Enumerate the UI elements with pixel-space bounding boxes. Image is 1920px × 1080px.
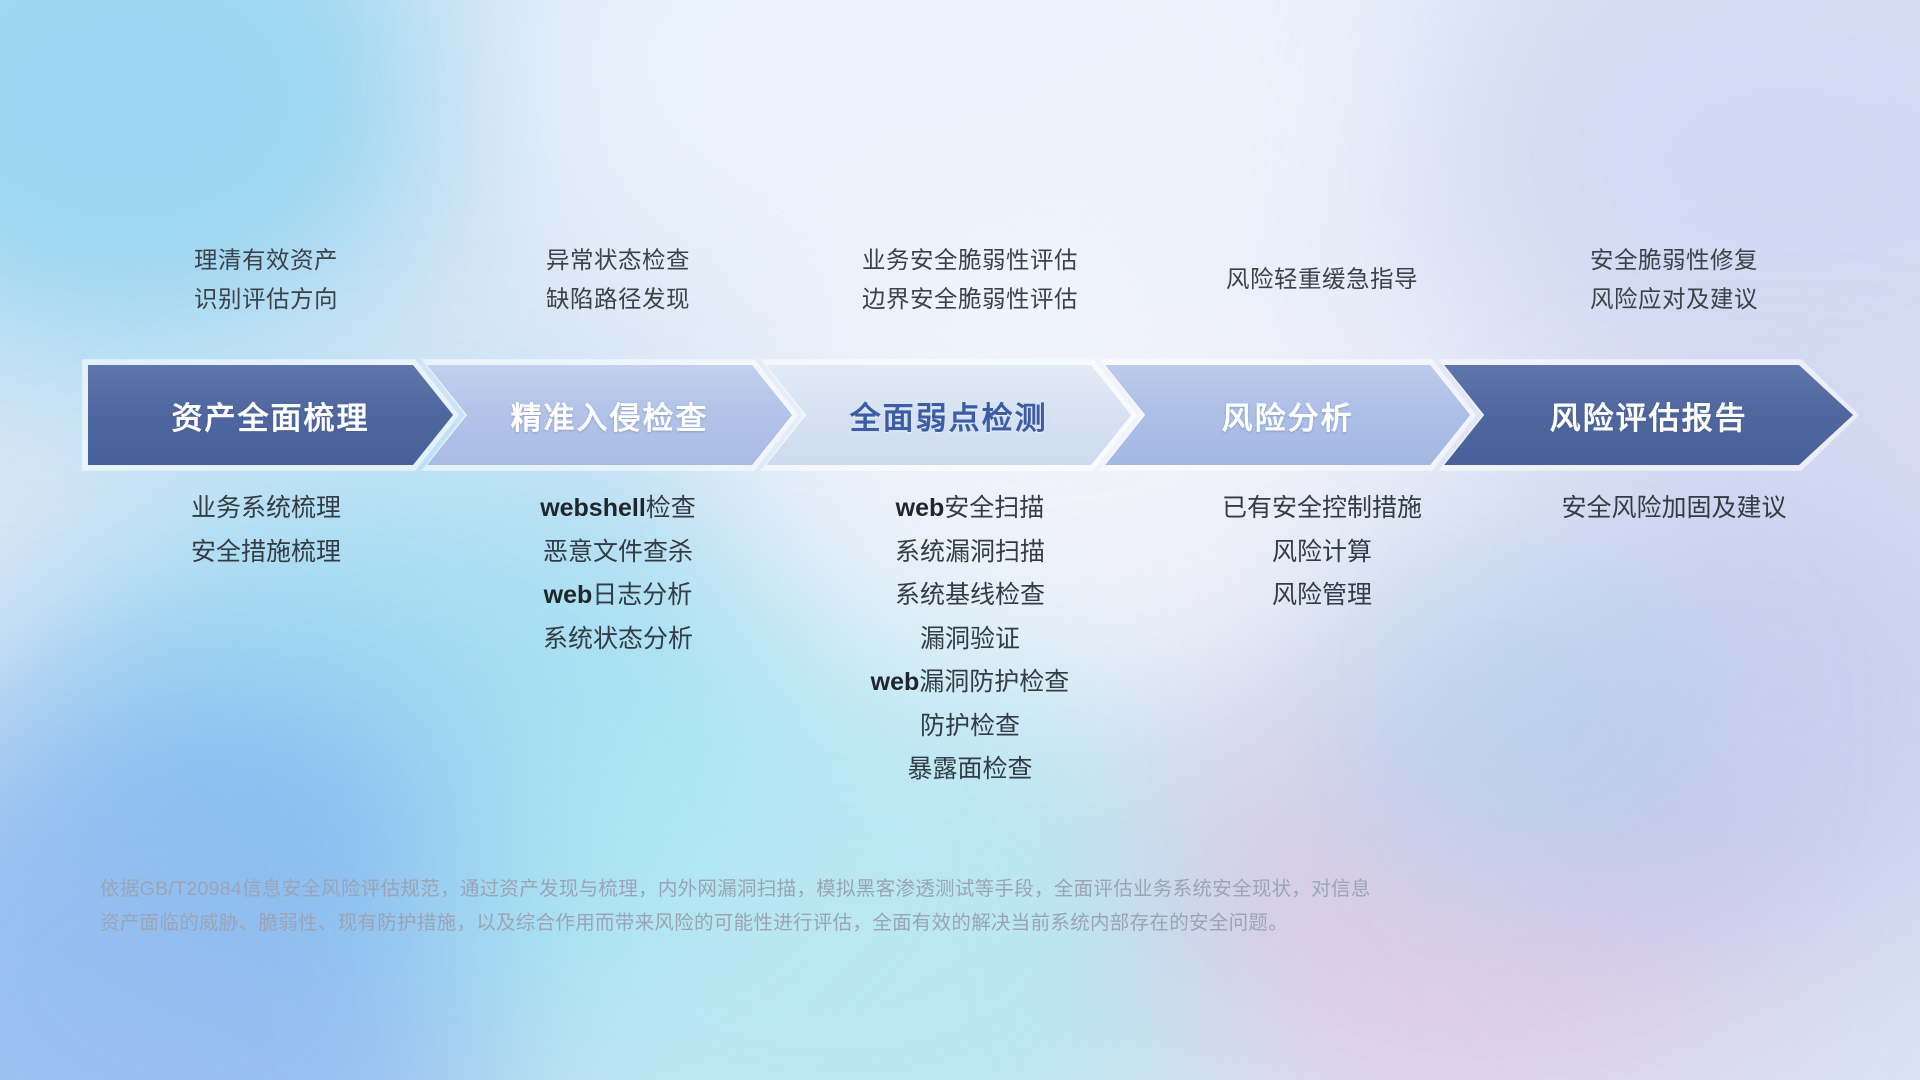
top-label-group-5: 安全脆弱性修复风险应对及建议 <box>1498 225 1850 335</box>
process-step-5[interactable]: 风险评估报告 <box>1444 365 1853 465</box>
process-step-label: 风险分析 <box>1222 393 1354 438</box>
list-item-text: 安全风险加固及建议 <box>1561 494 1786 522</box>
list-item: 安全措施梳理 <box>191 539 341 567</box>
bottom-detail-row: 业务系统梳理安全措施梳理webshell检查恶意文件查杀web日志分析系统状态分… <box>90 495 1850 784</box>
list-item-text: 漏洞防护检查 <box>919 668 1069 696</box>
list-item: web安全扫描 <box>896 495 1045 523</box>
top-label-group-3: 业务安全脆弱性评估边界安全脆弱性评估 <box>794 225 1146 335</box>
top-label: 业务安全脆弱性评估 <box>862 248 1078 274</box>
detail-list-2: webshell检查恶意文件查杀web日志分析系统状态分析 <box>442 495 794 653</box>
list-item: 漏洞验证 <box>920 626 1020 654</box>
list-item-text: 日志分析 <box>592 581 692 609</box>
top-label: 缺陷路径发现 <box>546 287 690 313</box>
list-item-text: 风险管理 <box>1272 581 1372 609</box>
footer-line: 资产面临的威胁、脆弱性、现有防护措施，以及综合作用而带来风险的可能性进行评估，全… <box>100 906 1660 940</box>
list-item: webshell检查 <box>540 495 696 523</box>
list-item: web日志分析 <box>544 582 693 610</box>
list-item-text: 业务系统梳理 <box>191 494 341 522</box>
detail-list-1: 业务系统梳理安全措施梳理 <box>90 495 442 566</box>
process-step-label: 资产全面梳理 <box>172 393 370 438</box>
list-item-latin: webshell <box>540 494 646 522</box>
footer-line: 依据GB/T20984信息安全风险评估规范，通过资产发现与梳理，内外网漏洞扫描，… <box>100 872 1660 906</box>
list-item-text: 安全扫描 <box>944 494 1044 522</box>
list-item-text: 漏洞验证 <box>920 625 1020 653</box>
top-label: 风险轻重缓急指导 <box>1226 267 1418 293</box>
process-step-label: 精准入侵检查 <box>511 393 709 438</box>
list-item-latin: web <box>896 494 945 522</box>
top-label-group-4: 风险轻重缓急指导 <box>1146 225 1498 335</box>
process-step-2[interactable]: 精准入侵检查 <box>427 365 792 465</box>
list-item: 系统漏洞扫描 <box>895 539 1045 567</box>
list-item: 暴露面检查 <box>907 756 1032 784</box>
top-label: 边界安全脆弱性评估 <box>862 287 1078 313</box>
list-item-text: 系统漏洞扫描 <box>895 538 1045 566</box>
top-label: 风险应对及建议 <box>1590 287 1758 313</box>
list-item: 业务系统梳理 <box>191 495 341 523</box>
list-item-text: 系统基线检查 <box>895 581 1045 609</box>
list-item-text: 风险计算 <box>1272 538 1372 566</box>
list-item: 风险管理 <box>1272 582 1372 610</box>
process-step-4[interactable]: 风险分析 <box>1105 365 1470 465</box>
list-item: 防护检查 <box>920 713 1020 741</box>
detail-list-3: web安全扫描系统漏洞扫描系统基线检查漏洞验证web漏洞防护检查防护检查暴露面检… <box>794 495 1146 784</box>
list-item-text: 已有安全控制措施 <box>1222 494 1422 522</box>
slide-canvas: 理清有效资产识别评估方向异常状态检查缺陷路径发现业务安全脆弱性评估边界安全脆弱性… <box>0 0 1920 1080</box>
list-item-latin: web <box>871 668 920 696</box>
list-item: 已有安全控制措施 <box>1222 495 1422 523</box>
list-item: 系统基线检查 <box>895 582 1045 610</box>
list-item: 恶意文件查杀 <box>543 539 693 567</box>
list-item-text: 系统状态分析 <box>543 625 693 653</box>
top-label-row: 理清有效资产识别评估方向异常状态检查缺陷路径发现业务安全脆弱性评估边界安全脆弱性… <box>90 225 1850 335</box>
process-step-label: 全面弱点检测 <box>850 393 1048 438</box>
top-label: 识别评估方向 <box>194 287 338 313</box>
list-item: 系统状态分析 <box>543 626 693 654</box>
list-item-text: 恶意文件查杀 <box>543 538 693 566</box>
process-step-3[interactable]: 全面弱点检测 <box>766 365 1131 465</box>
list-item: web漏洞防护检查 <box>871 669 1070 697</box>
top-label: 安全脆弱性修复 <box>1590 248 1758 274</box>
top-label: 理清有效资产 <box>194 248 338 274</box>
footer-description: 依据GB/T20984信息安全风险评估规范，通过资产发现与梳理，内外网漏洞扫描，… <box>100 872 1660 940</box>
top-label-group-2: 异常状态检查缺陷路径发现 <box>442 225 794 335</box>
detail-list-4: 已有安全控制措施风险计算风险管理 <box>1146 495 1498 610</box>
process-step-1[interactable]: 资产全面梳理 <box>88 365 453 465</box>
list-item-text: 安全措施梳理 <box>191 538 341 566</box>
top-label-group-1: 理清有效资产识别评估方向 <box>90 225 442 335</box>
list-item-text: 检查 <box>646 494 696 522</box>
list-item-text: 防护检查 <box>920 712 1020 740</box>
list-item: 风险计算 <box>1272 539 1372 567</box>
top-label: 异常状态检查 <box>546 248 690 274</box>
list-item-latin: web <box>544 581 593 609</box>
detail-list-5: 安全风险加固及建议 <box>1498 495 1850 523</box>
list-item: 安全风险加固及建议 <box>1561 495 1786 523</box>
list-item-text: 暴露面检查 <box>907 755 1032 783</box>
process-step-label: 风险评估报告 <box>1550 393 1748 438</box>
process-chevron-band: 资产全面梳理精准入侵检查全面弱点检测风险分析风险评估报告 <box>88 365 1853 465</box>
